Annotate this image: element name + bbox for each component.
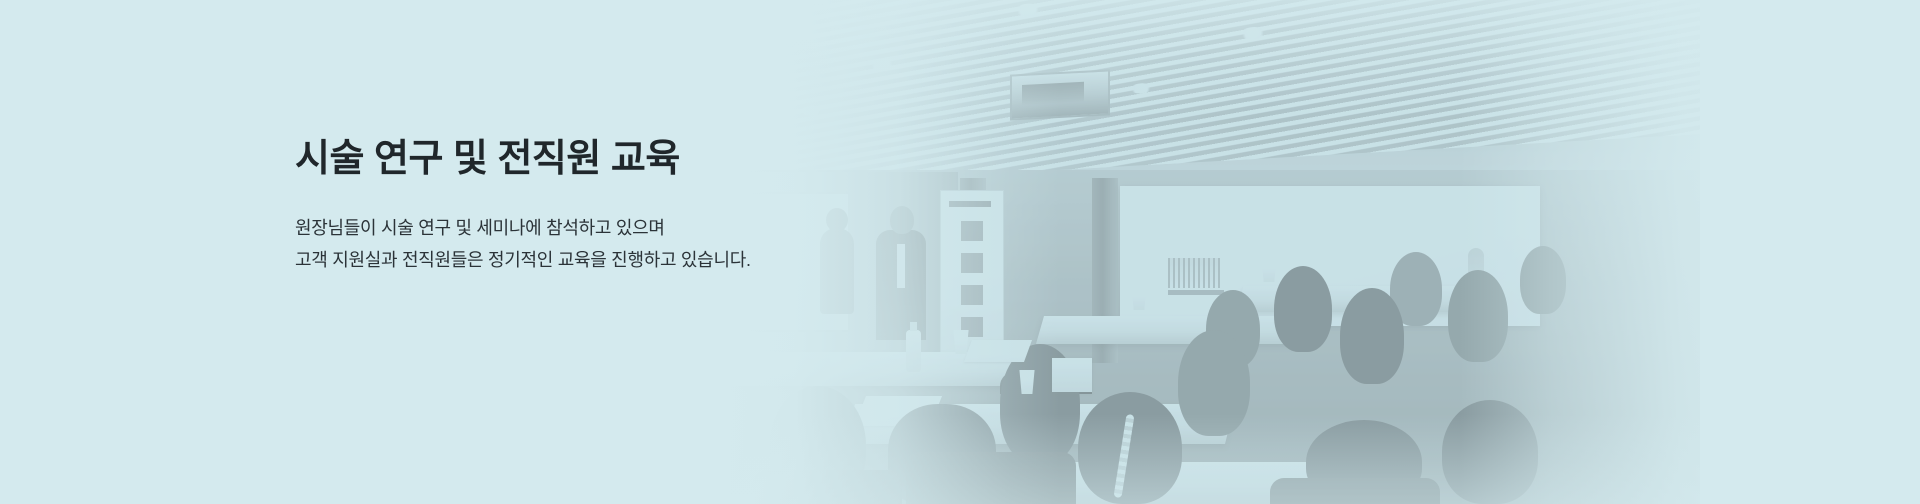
- banner-description: 원장님들이 시술 연구 및 세미나에 참석하고 있으며 고객 지원실과 전직원들…: [295, 212, 751, 276]
- page-title: 시술 연구 및 전직원 교육: [295, 136, 680, 184]
- banner-description-line-2: 고객 지원실과 전직원들은 정기적인 교육을 진행하고 있습니다.: [295, 244, 751, 276]
- banner-photo: [0, 0, 1920, 504]
- banner-description-line-1: 원장님들이 시술 연구 및 세미나에 참석하고 있으며: [295, 212, 751, 244]
- hero-banner: 시술 연구 및 전직원 교육 원장님들이 시술 연구 및 세미나에 참석하고 있…: [0, 0, 1920, 504]
- photo-fade-top: [700, 0, 1920, 120]
- photo-fade-bottom: [700, 414, 1920, 504]
